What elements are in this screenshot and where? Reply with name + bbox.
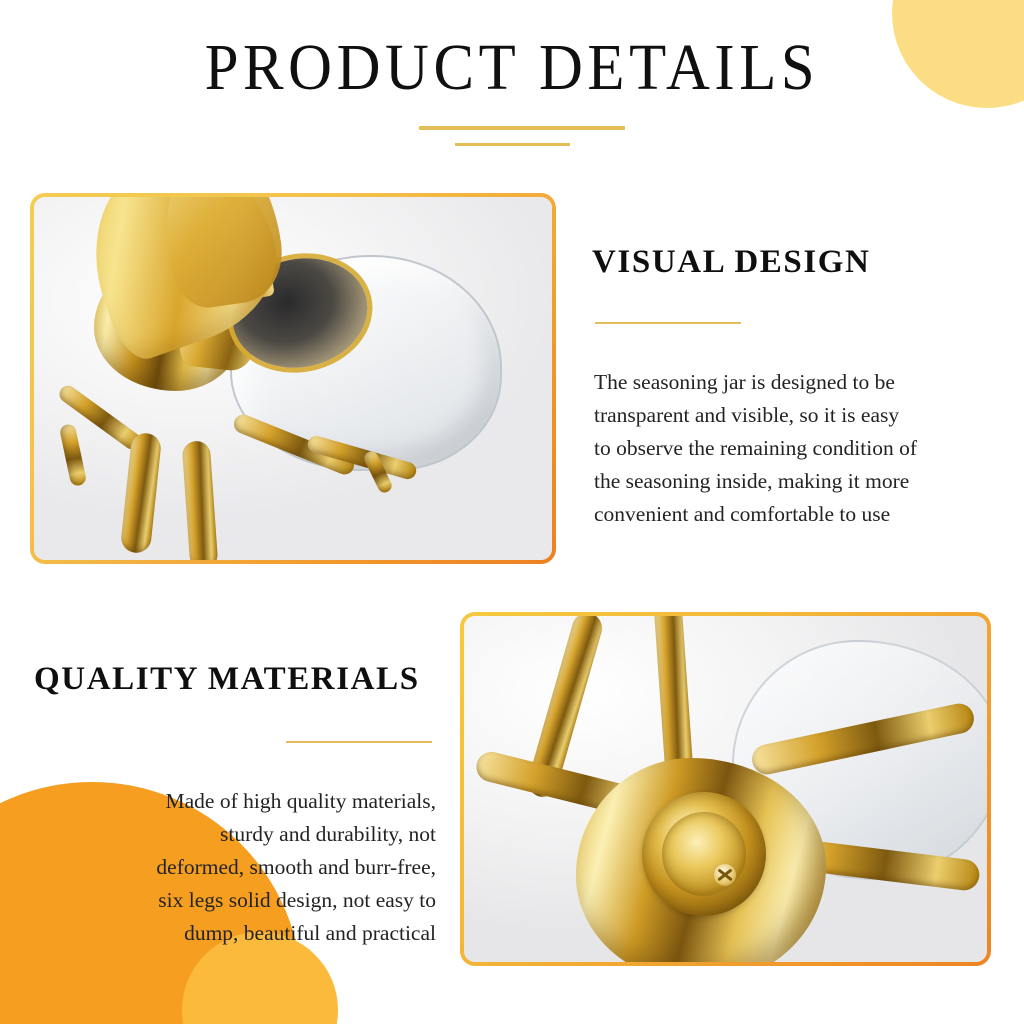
hub-ring	[662, 812, 746, 896]
product-image-card-quality-materials	[460, 612, 991, 966]
body-line: the seasoning inside, making it more	[594, 465, 966, 498]
product-photo-bee-jar-side	[34, 197, 552, 560]
page-title: PRODUCT DETAILS	[41, 32, 983, 104]
body-line: transparent and visible, so it is easy	[594, 399, 966, 432]
section-body-quality-materials: Made of high quality materials, sturdy a…	[52, 785, 436, 950]
product-image-card-visual-design	[30, 193, 556, 564]
section-divider-quality-materials	[286, 741, 432, 743]
section-divider-visual-design	[595, 322, 741, 324]
body-line: Made of high quality materials,	[52, 785, 436, 818]
body-line: convenient and comfortable to use	[594, 498, 966, 531]
section-body-visual-design: The seasoning jar is designed to be tran…	[594, 366, 966, 531]
center-screw-hub	[642, 792, 766, 916]
body-line: sturdy and durability, not	[52, 818, 436, 851]
body-line: deformed, smooth and burr-free,	[52, 851, 436, 884]
body-line: six legs solid design, not easy to	[52, 884, 436, 917]
body-line: The seasoning jar is designed to be	[594, 366, 966, 399]
body-line: to observe the remaining condition of	[594, 432, 966, 465]
infographic-canvas: PRODUCT DETAILS VISUAL DESIGN The season…	[0, 0, 1024, 1024]
section-heading-quality-materials: QUALITY MATERIALS	[34, 660, 420, 698]
title-divider-long	[419, 126, 625, 130]
title-divider-short	[455, 143, 570, 146]
body-line: dump, beautiful and practical	[52, 917, 436, 950]
phillips-screw-icon	[714, 864, 736, 886]
product-photo-bee-jar-underside	[464, 616, 987, 962]
section-heading-visual-design: VISUAL DESIGN	[592, 243, 870, 281]
